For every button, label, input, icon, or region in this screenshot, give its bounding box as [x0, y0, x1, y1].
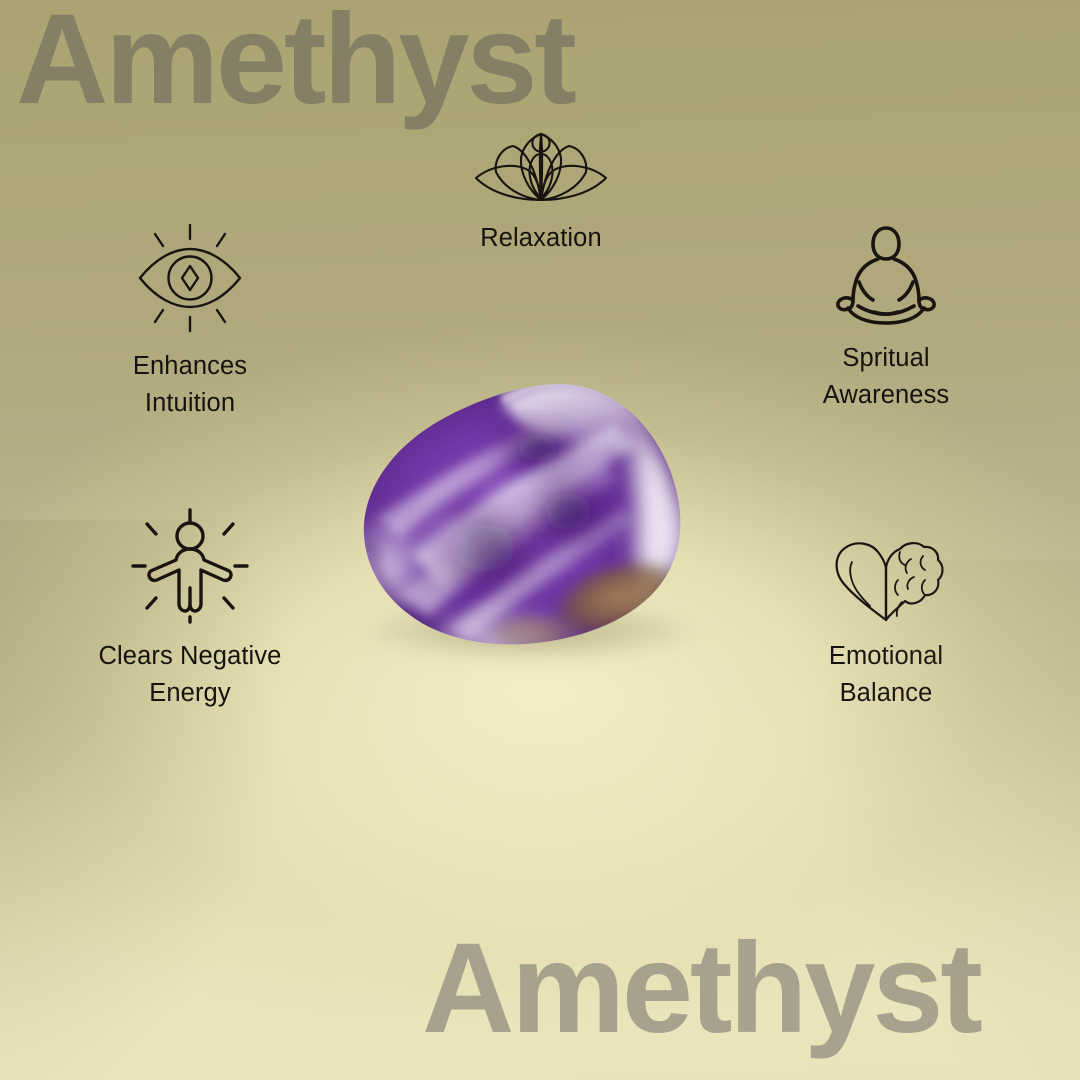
- benefit-label: Enhances Intuition: [133, 348, 247, 422]
- heart-brain-icon: [826, 528, 946, 624]
- page-title-top: Amethyst: [16, 0, 574, 124]
- benefit-clears-negative-energy: Clears Negative Energy: [40, 508, 340, 712]
- benefit-relaxation: Relaxation: [391, 120, 691, 257]
- third-eye-icon: [128, 222, 252, 334]
- amethyst-stone: [352, 372, 712, 672]
- lotus-meditation-icon: [466, 120, 616, 206]
- meditating-person-icon: [828, 222, 944, 326]
- benefit-label: Clears Negative Energy: [99, 638, 282, 712]
- benefit-spiritual-awareness: Spritual Awareness: [736, 222, 1036, 414]
- radiating-person-icon: [127, 508, 253, 624]
- benefit-label: Emotional Balance: [829, 638, 943, 712]
- page-title-bottom: Amethyst: [422, 925, 980, 1053]
- benefit-label: Relaxation: [480, 220, 602, 257]
- benefit-intuition: Enhances Intuition: [40, 222, 340, 422]
- amethyst-benefits-poster: Amethyst Relaxation: [0, 0, 1080, 1080]
- stone-illustration: [352, 372, 712, 672]
- benefit-label: Spritual Awareness: [823, 340, 950, 414]
- benefit-emotional-balance: Emotional Balance: [736, 528, 1036, 712]
